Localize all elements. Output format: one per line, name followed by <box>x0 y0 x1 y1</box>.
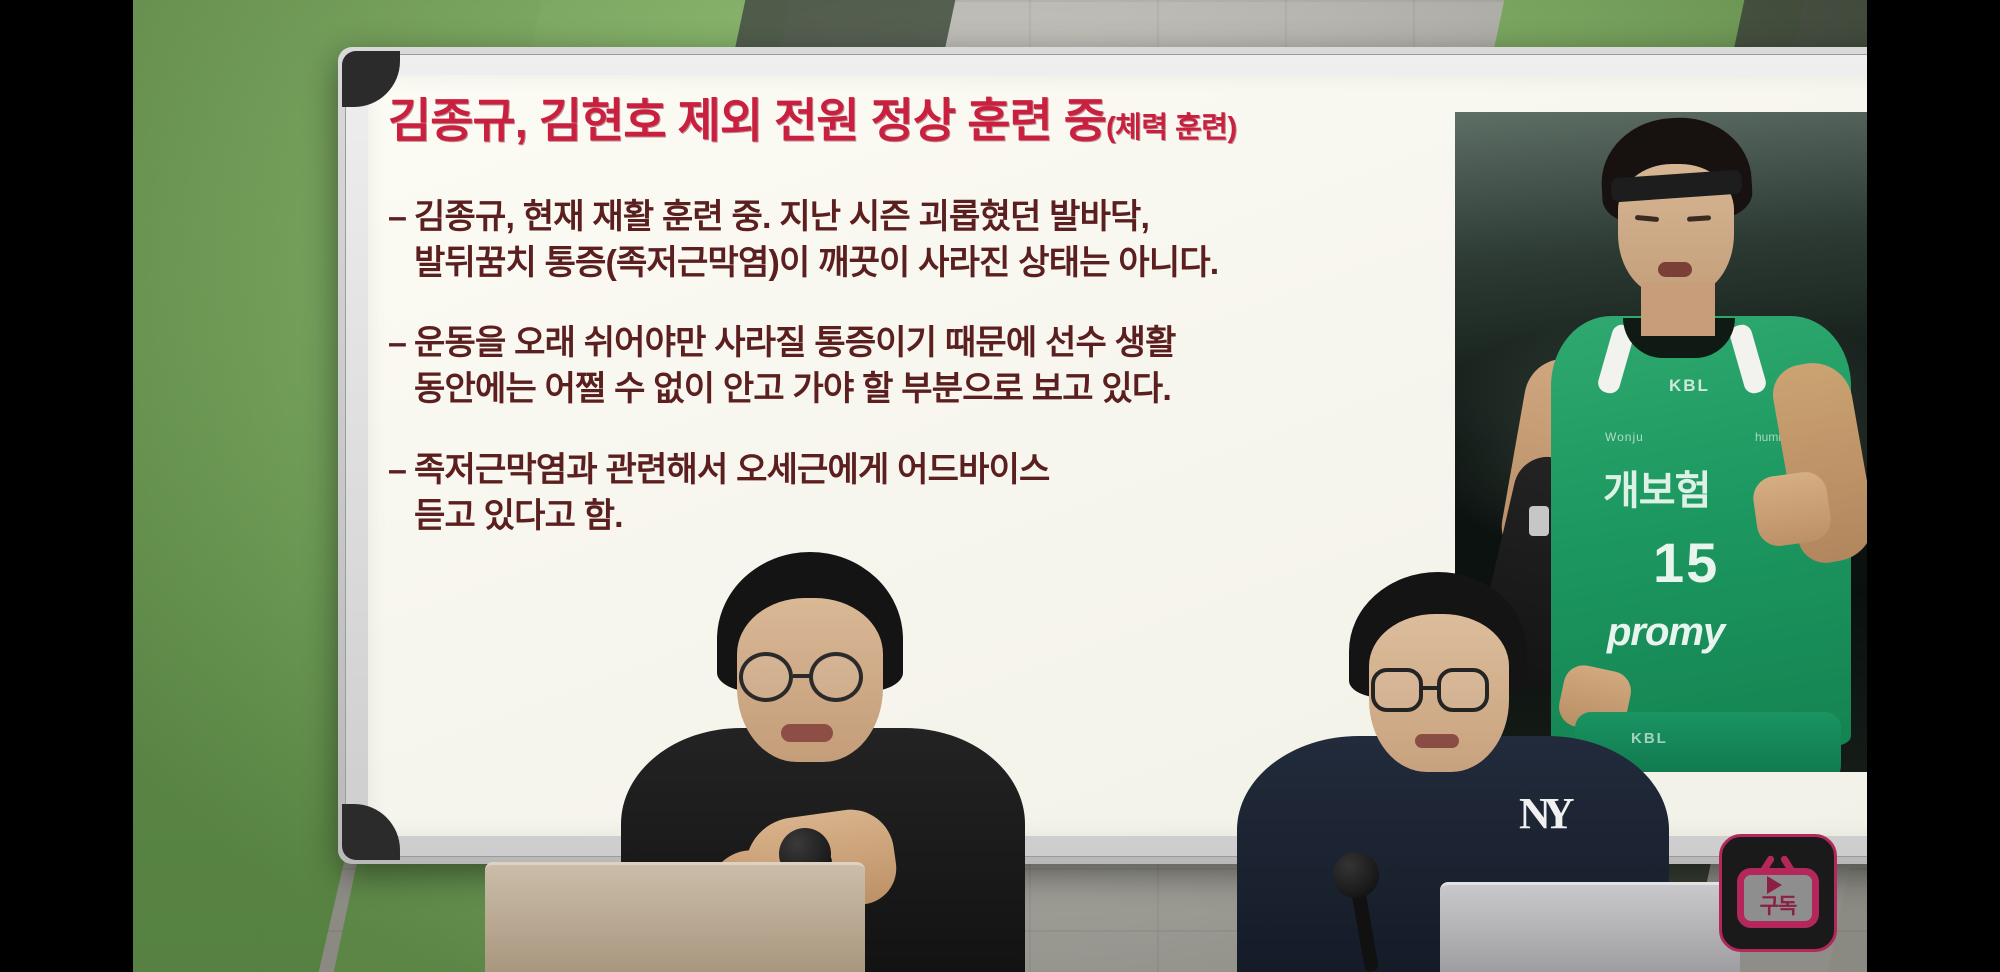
slide-title-sub: (체력 훈련) <box>1106 112 1237 144</box>
bullet-dash-icon: – <box>388 194 414 240</box>
jersey-sponsor-text: 개보험 <box>1603 458 1710 516</box>
bullet-line: 동안에는 어쩔 수 없이 안고 가야 할 부분으로 보고 있다. <box>414 370 1171 408</box>
bullet-line: 김종규, 현재 재활 훈련 중. 지난 시즌 괴롭혔던 발바닥, <box>414 198 1149 236</box>
host-right-shirt-logo: NY <box>1519 788 1567 839</box>
laptop-left-lid <box>485 862 865 972</box>
letterbox-left <box>0 0 133 972</box>
host-right-glasses-lens-right <box>1437 668 1489 712</box>
bullet-dash-icon: – <box>388 447 414 493</box>
host-left-glasses-lens-right <box>809 652 863 702</box>
subscribe-button[interactable]: 구독 <box>1719 834 1837 952</box>
host-right-glasses-lens-left <box>1371 668 1423 712</box>
nba-logo-icon <box>1529 506 1549 536</box>
video-player-screen: 김종규, 김현호 제외 전원 정상 훈련 중(체력 훈련) – 김종규, 현재 … <box>0 0 2000 972</box>
host-left-glasses-bridge <box>793 674 811 678</box>
player-mouth <box>1658 262 1692 277</box>
host-left-glasses-lens-left <box>739 652 793 702</box>
video-stage: 김종규, 김현호 제외 전원 정상 훈련 중(체력 훈련) – 김종규, 현재 … <box>133 0 1867 972</box>
host-right-glasses-bridge <box>1423 686 1439 690</box>
laptop-right <box>1440 882 1740 972</box>
host-left-mouth <box>781 724 833 742</box>
laptop-right-lid <box>1440 882 1740 972</box>
host-right-mouth <box>1415 734 1459 748</box>
bullet-dash-icon: – <box>388 320 414 366</box>
tv-subscribe-icon: 구독 <box>1737 858 1819 928</box>
bullet-line: 족저근막염과 관련해서 오세근에게 어드바이스 <box>414 451 1050 489</box>
microphone-right-head <box>1333 852 1379 898</box>
subscribe-label: 구독 <box>1737 890 1819 920</box>
bullet-line: 발뒤꿈치 통증(족저근막염)이 깨끗이 사라진 상태는 아니다. <box>414 244 1218 282</box>
kbl-league-mark: KBL <box>1669 376 1710 396</box>
player-neck <box>1641 282 1715 336</box>
bullet-line: 듣고 있다고 함. <box>414 497 623 535</box>
laptop-left <box>485 862 865 972</box>
slide-title-main: 김종규, 김현호 제외 전원 정상 훈련 중 <box>388 94 1106 147</box>
bullet-line: 운동을 오래 쉬어야만 사라질 통증이기 때문에 선수 생활 <box>414 324 1176 362</box>
player-right-fist <box>1750 469 1833 549</box>
jersey-sponsor-left: Wonju <box>1605 430 1644 444</box>
letterbox-right <box>1867 0 2000 972</box>
